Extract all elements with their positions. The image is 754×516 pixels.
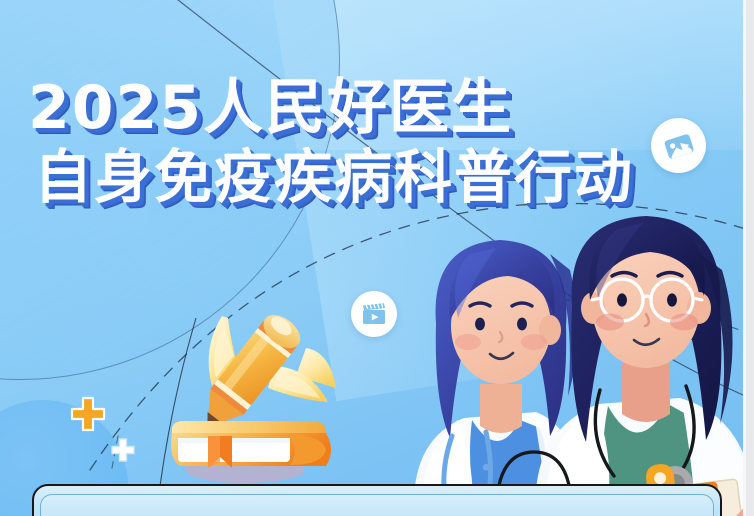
plus-large: [66, 392, 110, 441]
headline-line-2: 自身免疫疾病科普行动: [34, 148, 634, 206]
video-clapperboard-icon: [359, 299, 389, 329]
medical-plus-icon: [108, 435, 138, 465]
book: [171, 421, 331, 468]
image-icon: [662, 129, 696, 163]
right-edge-strip: [746, 0, 754, 516]
doctor-left-eye: [517, 318, 527, 331]
bottom-panel-inner-border: [40, 494, 714, 516]
promo-banner: 2025人民好医生 自身免疫疾病科普行动: [0, 0, 754, 516]
video-badge[interactable]: [351, 291, 397, 337]
headline-line-1: 2025人民好医生: [28, 78, 634, 138]
plus-small: [108, 435, 138, 470]
image-badge[interactable]: [651, 118, 706, 173]
headline: 2025人民好医生 自身免疫疾病科普行动: [28, 78, 634, 206]
doctor-left-eye: [475, 318, 485, 331]
doctor-right-eye: [667, 293, 677, 306]
medical-plus-icon: [66, 392, 110, 436]
doctor-right-eye: [617, 293, 627, 306]
doctors-illustration: [400, 214, 754, 516]
winged-pencil-and-book-illustration: [150, 302, 365, 492]
